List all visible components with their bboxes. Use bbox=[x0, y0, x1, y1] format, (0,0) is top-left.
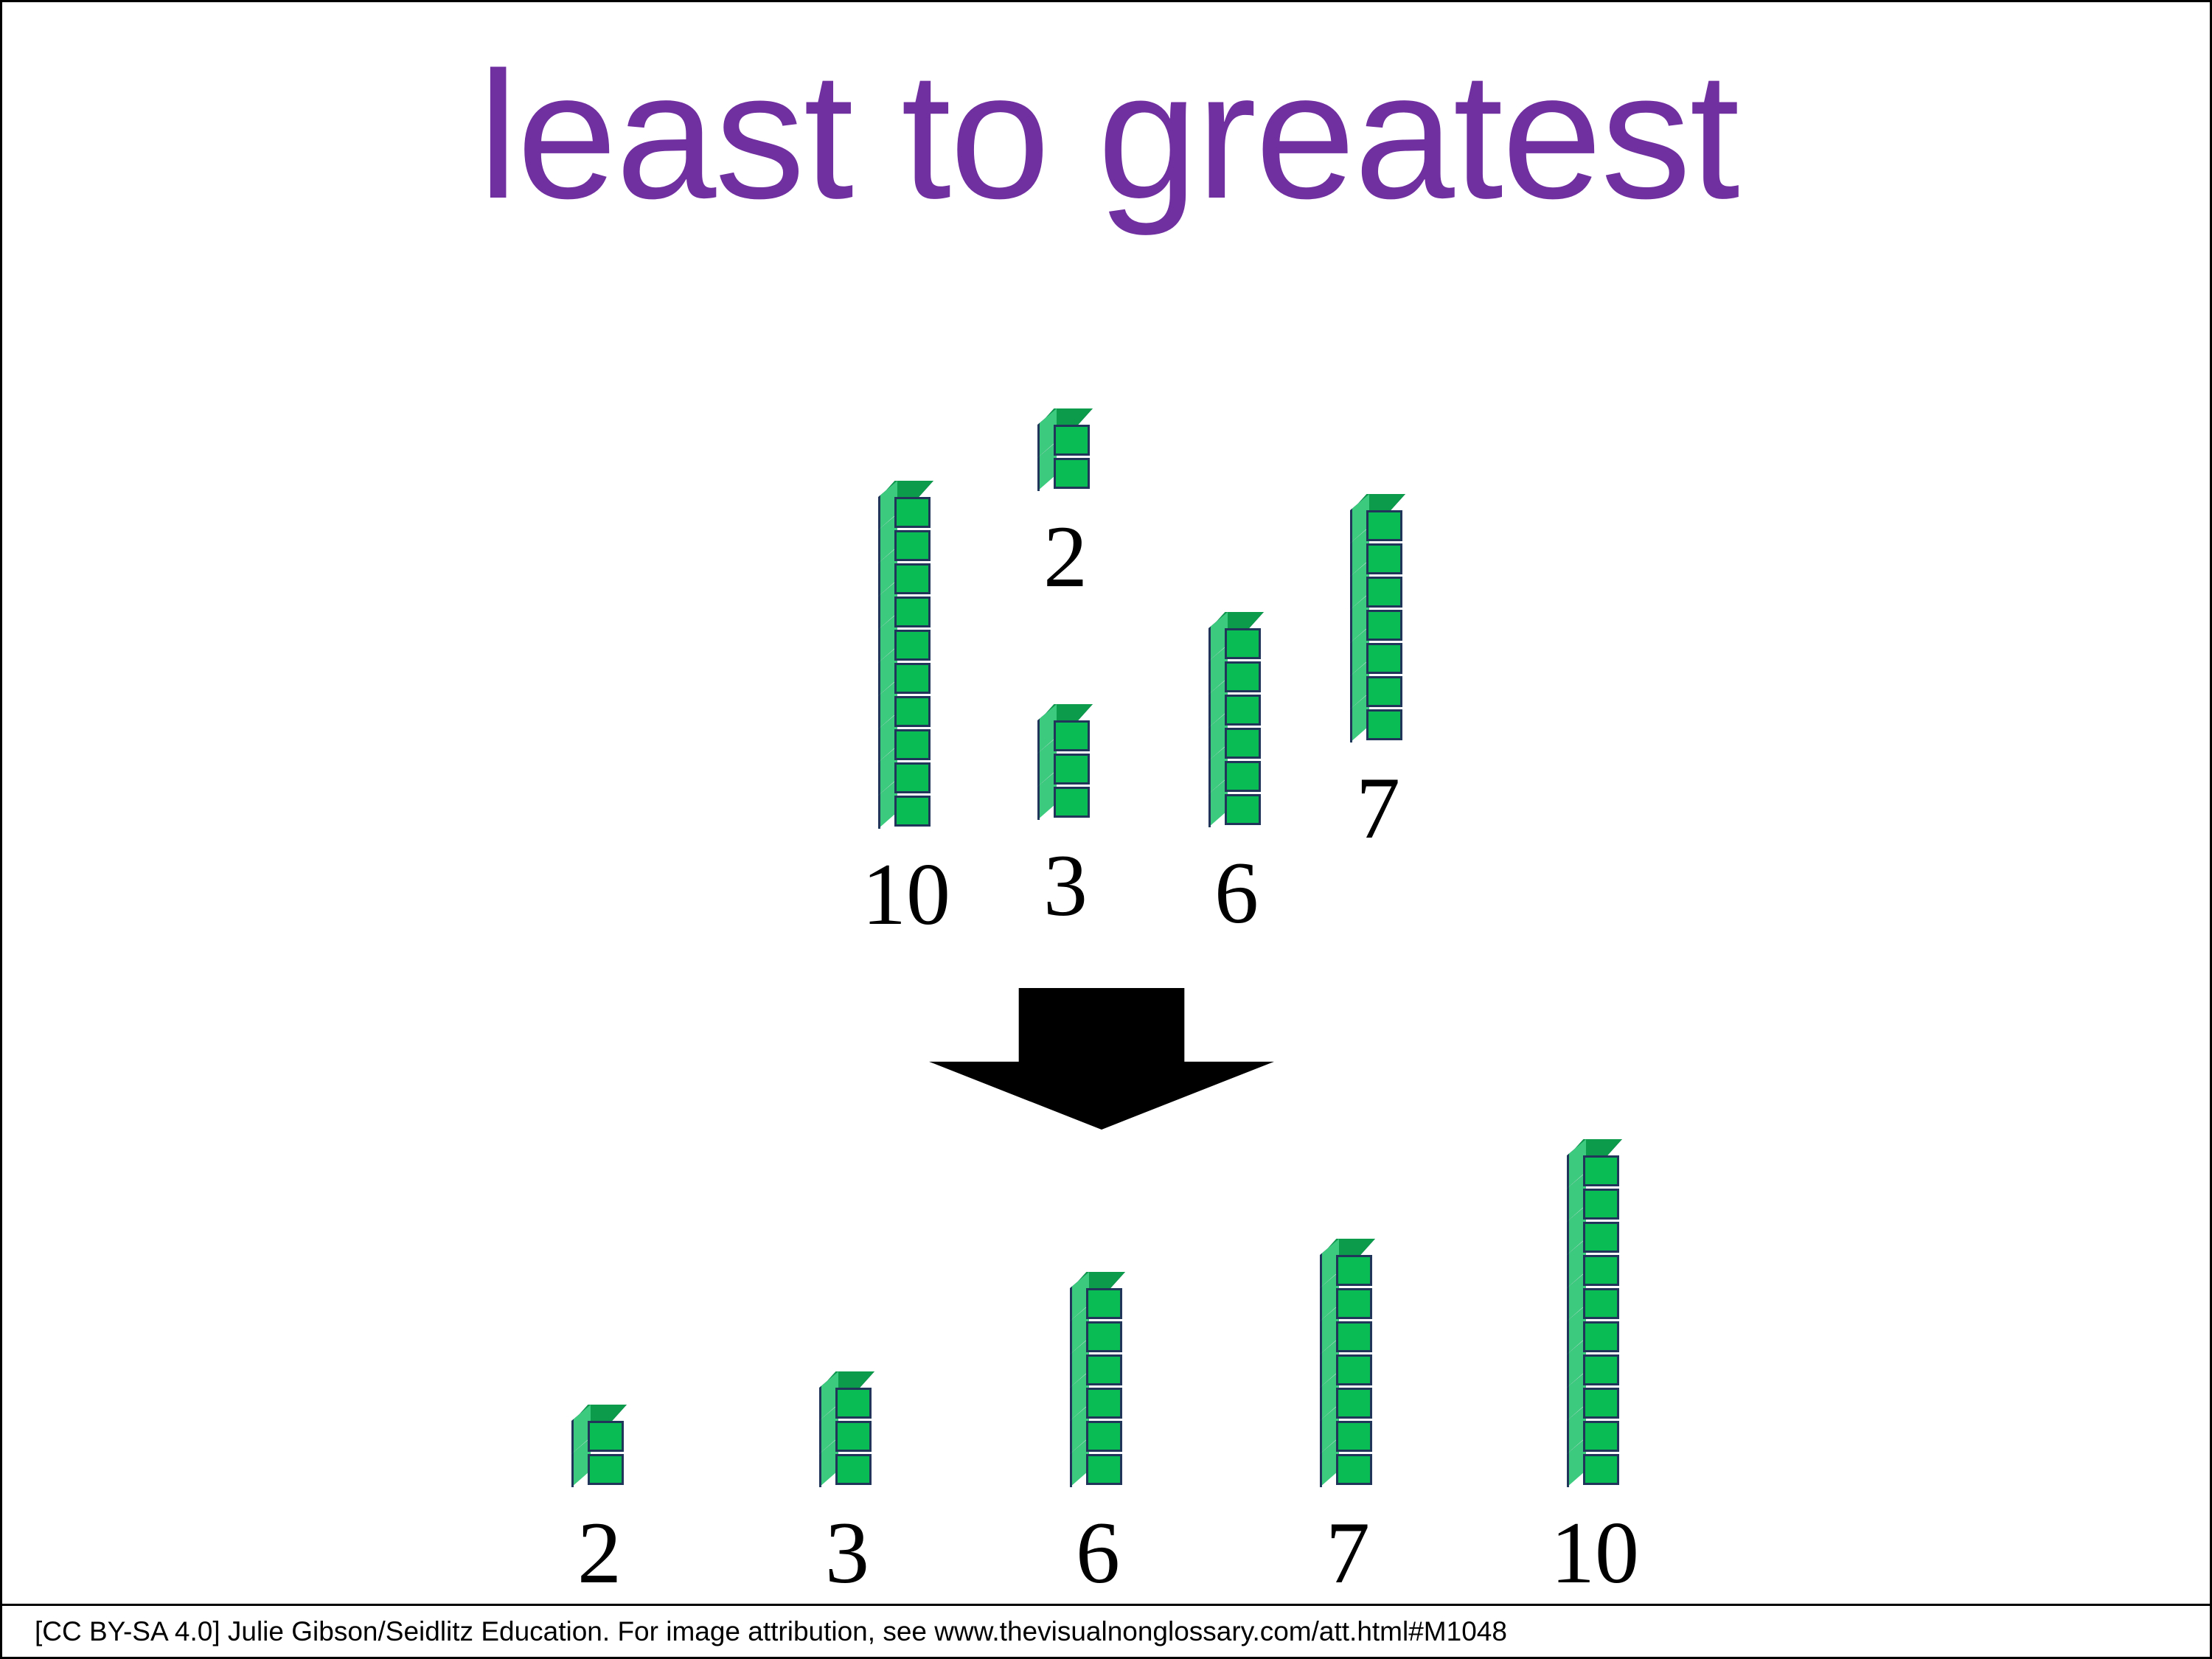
cube-front-face bbox=[835, 1454, 872, 1485]
tower-value-label: 2 bbox=[540, 1509, 658, 1597]
cube-front-face bbox=[1336, 1255, 1372, 1286]
cube-front-face bbox=[894, 796, 931, 827]
cube-front-face bbox=[894, 696, 931, 727]
cube-front-face bbox=[894, 563, 931, 594]
page-title: least to greatest bbox=[2, 45, 2212, 226]
cube-tower bbox=[1320, 1239, 1375, 1488]
cube-front-face bbox=[835, 1388, 872, 1419]
cube-tower bbox=[1350, 494, 1405, 743]
cube-front-face bbox=[1336, 1454, 1372, 1485]
cube-front-face bbox=[1086, 1454, 1122, 1485]
cube-front-face bbox=[1583, 1321, 1619, 1352]
unit-cube bbox=[1350, 494, 1405, 544]
cube-front-face bbox=[1054, 787, 1090, 818]
cube-front-face bbox=[835, 1421, 872, 1452]
cube-front-face bbox=[1583, 1255, 1619, 1286]
cube-front-face bbox=[1225, 728, 1261, 759]
cube-front-face bbox=[1583, 1354, 1619, 1385]
cube-tower bbox=[1037, 408, 1093, 492]
cube-tower bbox=[1070, 1272, 1125, 1488]
cube-front-face bbox=[1336, 1321, 1372, 1352]
cube-front-face bbox=[1054, 754, 1090, 785]
cube-front-face bbox=[1336, 1388, 1372, 1419]
cube-front-face bbox=[1086, 1321, 1122, 1352]
cube-front-face bbox=[894, 597, 931, 627]
cube-front-face bbox=[1336, 1421, 1372, 1452]
cube-front-face bbox=[1054, 720, 1090, 751]
cube-tower bbox=[878, 481, 933, 829]
cube-tower bbox=[819, 1371, 874, 1488]
cube-front-face bbox=[1583, 1288, 1619, 1319]
unit-cube bbox=[1070, 1272, 1125, 1322]
cube-front-face bbox=[1583, 1189, 1619, 1220]
unit-cube bbox=[571, 1405, 627, 1455]
tower-value-label: 6 bbox=[1039, 1509, 1157, 1597]
unit-cube bbox=[1037, 704, 1093, 754]
cube-front-face bbox=[1583, 1222, 1619, 1253]
cube-front-face bbox=[1366, 543, 1402, 574]
cube-front-face bbox=[588, 1454, 624, 1485]
cube-front-face bbox=[1086, 1288, 1122, 1319]
cube-tower bbox=[1567, 1139, 1622, 1488]
footer: [CC BY-SA 4.0] Julie Gibson/Seidlitz Edu… bbox=[2, 1604, 2212, 1657]
cube-tower bbox=[1037, 704, 1093, 821]
cube-front-face bbox=[894, 729, 931, 760]
cube-tower bbox=[571, 1405, 627, 1488]
cube-front-face bbox=[894, 530, 931, 561]
tower-value-label: 7 bbox=[1289, 1509, 1407, 1597]
tower-value-label: 6 bbox=[1178, 849, 1295, 937]
cube-front-face bbox=[588, 1421, 624, 1452]
tower-value-label: 3 bbox=[788, 1509, 906, 1597]
cube-front-face bbox=[1583, 1454, 1619, 1485]
tower-value-label: 10 bbox=[1536, 1509, 1654, 1597]
cube-front-face bbox=[1054, 425, 1090, 456]
cube-front-face bbox=[894, 762, 931, 793]
cube-front-face bbox=[1583, 1388, 1619, 1419]
tower-value-label: 7 bbox=[1319, 764, 1437, 852]
cube-front-face bbox=[1583, 1155, 1619, 1186]
down-arrow-icon bbox=[929, 988, 1274, 1130]
cube-front-face bbox=[1336, 1354, 1372, 1385]
cube-front-face bbox=[1225, 794, 1261, 825]
unit-cube bbox=[1320, 1239, 1375, 1289]
unit-cube bbox=[1567, 1139, 1622, 1189]
cube-front-face bbox=[1583, 1421, 1619, 1452]
cube-tower bbox=[1208, 612, 1264, 828]
tower-value-label: 2 bbox=[1006, 512, 1124, 601]
cube-front-face bbox=[1366, 610, 1402, 641]
cube-front-face bbox=[1086, 1421, 1122, 1452]
cube-front-face bbox=[1366, 676, 1402, 707]
cube-front-face bbox=[1366, 709, 1402, 740]
cube-front-face bbox=[1054, 458, 1090, 489]
tower-value-label: 3 bbox=[1006, 841, 1124, 930]
cube-front-face bbox=[1366, 577, 1402, 608]
cube-front-face bbox=[1336, 1288, 1372, 1319]
cube-front-face bbox=[1086, 1388, 1122, 1419]
unit-cube bbox=[878, 481, 933, 531]
tower-value-label: 10 bbox=[847, 850, 965, 939]
cube-front-face bbox=[1366, 643, 1402, 674]
cube-front-face bbox=[894, 630, 931, 661]
arrow-shape bbox=[929, 988, 1274, 1130]
cube-front-face bbox=[1366, 510, 1402, 541]
cube-front-face bbox=[894, 663, 931, 694]
cube-front-face bbox=[1086, 1354, 1122, 1385]
cube-front-face bbox=[1225, 661, 1261, 692]
cube-front-face bbox=[1225, 695, 1261, 726]
cube-front-face bbox=[1225, 628, 1261, 659]
cube-front-face bbox=[894, 497, 931, 528]
slide-canvas: least to greatest 102367 236710 [CC BY-S… bbox=[0, 0, 2212, 1659]
attribution-text: [CC BY-SA 4.0] Julie Gibson/Seidlitz Edu… bbox=[2, 1616, 1507, 1647]
unit-cube bbox=[819, 1371, 874, 1422]
unit-cube bbox=[1037, 408, 1093, 459]
cube-front-face bbox=[1225, 761, 1261, 792]
unit-cube bbox=[1208, 612, 1264, 662]
